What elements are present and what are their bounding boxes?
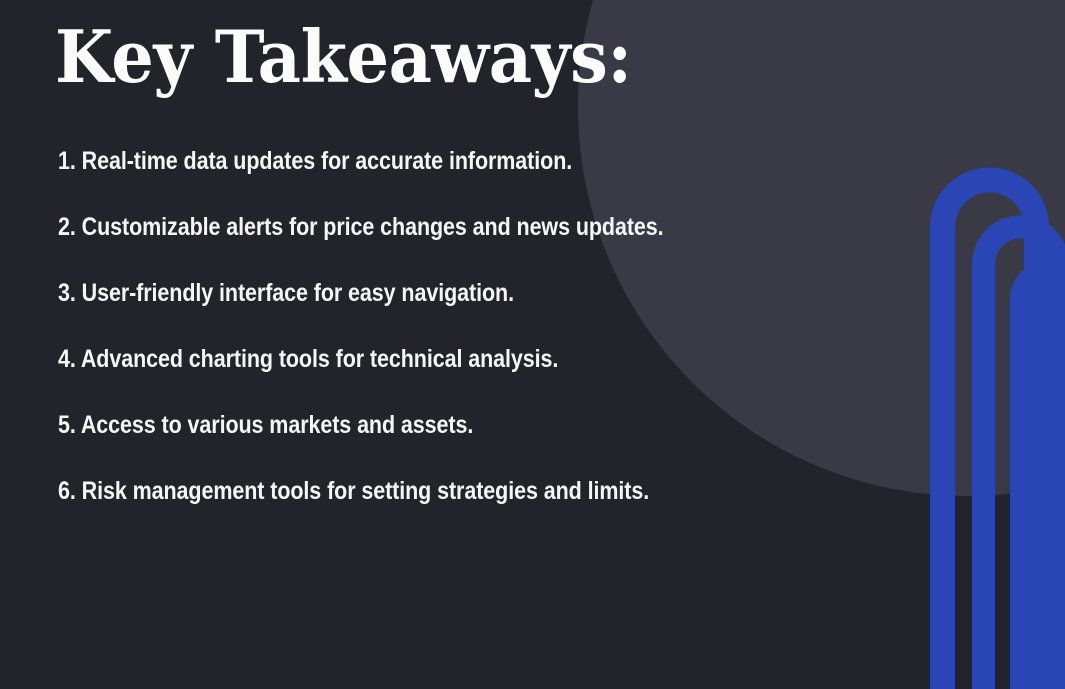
list-item: 1. Real-time data updates for accurate i…: [58, 148, 798, 174]
content-layer: Key Takeaways: 1. Real-time data updates…: [0, 0, 1065, 689]
list-item: 5. Access to various markets and assets.: [58, 412, 798, 438]
list-item: 2. Customizable alerts for price changes…: [58, 214, 798, 240]
takeaways-list: 1. Real-time data updates for accurate i…: [58, 148, 918, 504]
slide-canvas: Key Takeaways: 1. Real-time data updates…: [0, 0, 1065, 689]
list-item: 3. User-friendly interface for easy navi…: [58, 280, 798, 306]
list-item: 6. Risk management tools for setting str…: [58, 478, 798, 504]
page-title: Key Takeaways:: [55, 21, 632, 93]
list-item: 4. Advanced charting tools for technical…: [58, 346, 798, 372]
